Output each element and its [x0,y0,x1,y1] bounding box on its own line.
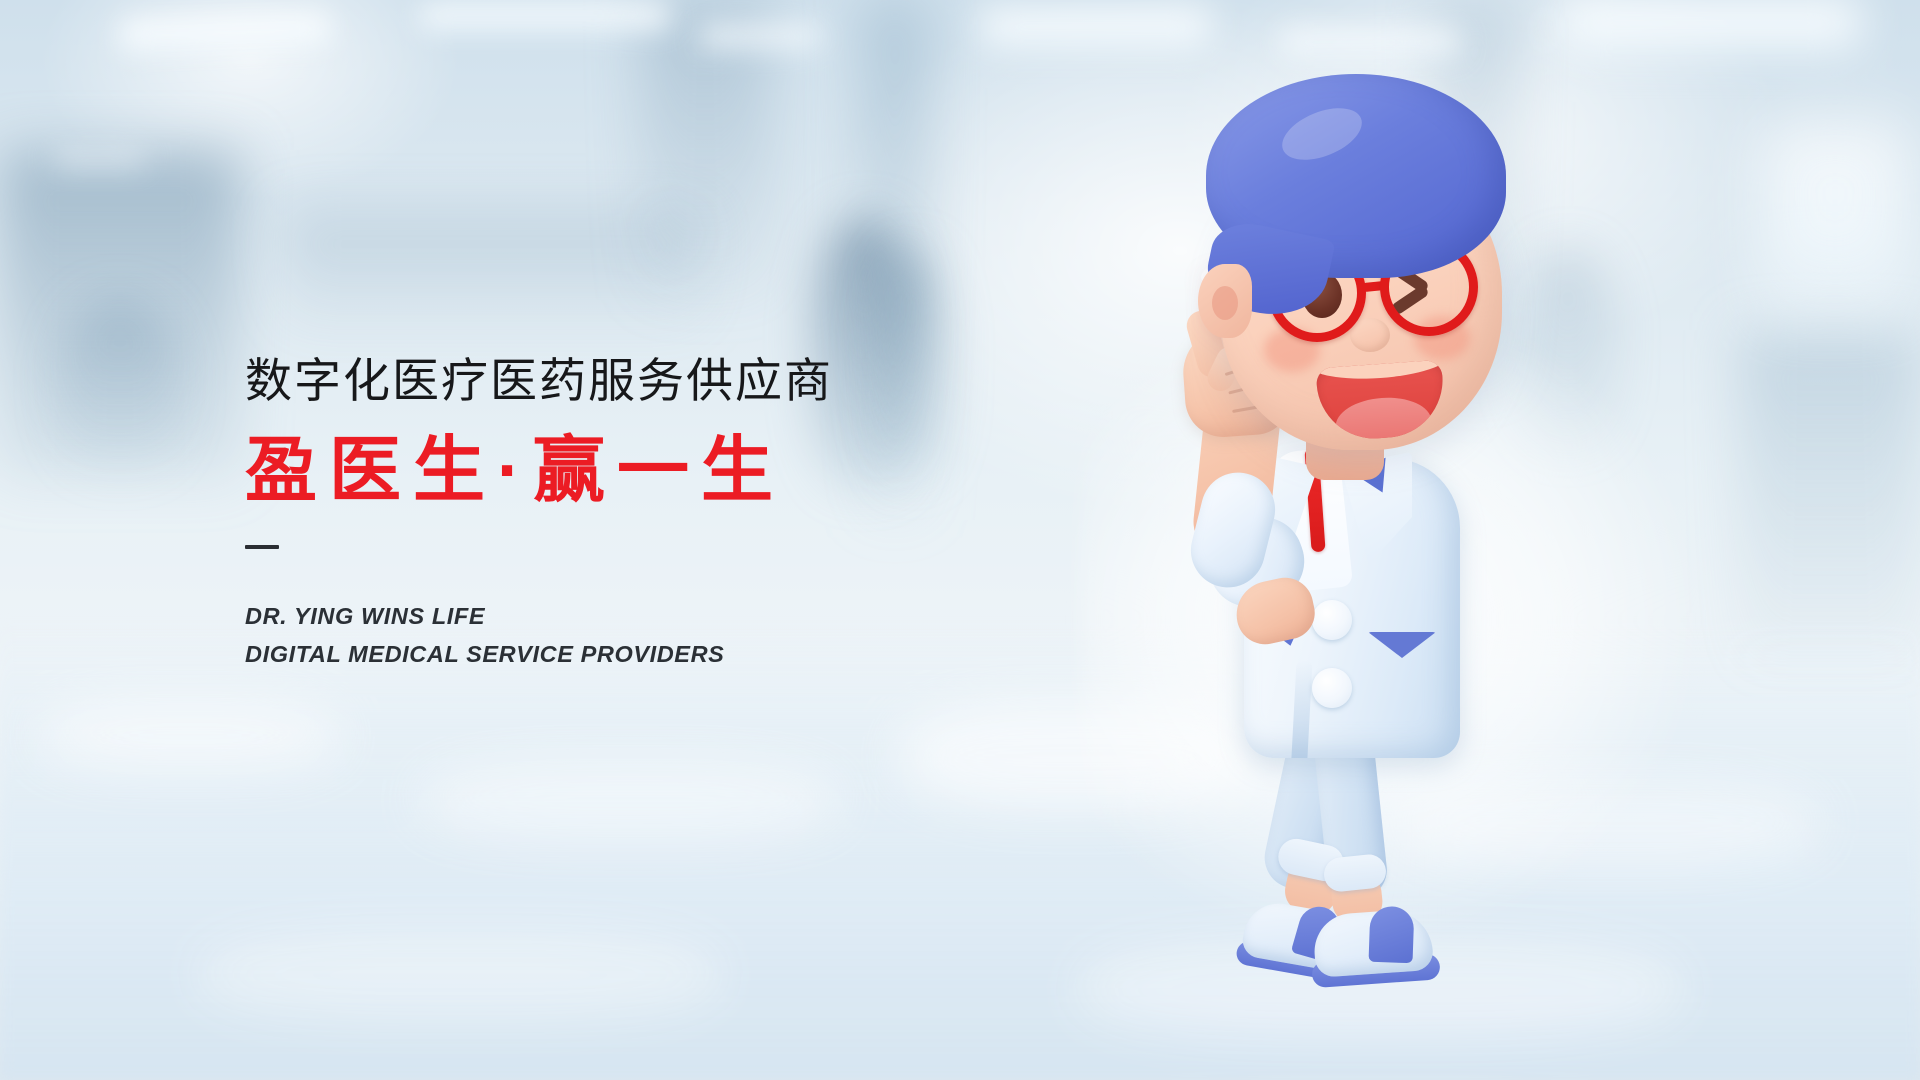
shoe-strap [1369,906,1415,964]
ceiling-light-icon [980,10,1210,52]
ceiling-light-icon [420,4,670,34]
ear-inner [1212,286,1238,320]
bg-person-silhouette [60,300,180,470]
ceiling-light-icon [1560,0,1860,58]
tongue [1334,395,1433,443]
coat-pocket-accent [1368,632,1436,658]
floor-highlight [40,700,340,770]
page-title: 数字化医疗医药服务供应商 [245,355,1065,407]
mouth-smile [1316,360,1447,443]
coat-button [1312,668,1352,708]
hero-banner: 数字化医疗医药服务供应商 盈医生·赢一生 DR. YING WINS LIFE … [0,0,1920,1080]
floor-highlight [200,930,720,1020]
window-glow [1760,120,1910,340]
bg-structure-shape [1740,330,1920,670]
slogan: 盈医生·赢一生 [245,431,1065,512]
subtitle-line-2: DIGITAL MEDICAL SERVICE PROVIDERS [245,635,1065,673]
ceiling-light-icon [55,150,145,170]
coat-button [1312,600,1352,640]
doctor-mascot [1190,60,1630,1020]
ceiling-light-icon [119,14,330,55]
subtitle-line-1: DR. YING WINS LIFE [245,597,1065,635]
ceiling-light-icon [700,26,820,52]
ceiling-light-icon [1280,30,1460,60]
divider [245,545,279,549]
floor-highlight [420,760,840,840]
cap-highlight [1275,98,1369,170]
hero-copy-block: 数字化医疗医药服务供应商 盈医生·赢一生 DR. YING WINS LIFE … [245,355,1065,673]
